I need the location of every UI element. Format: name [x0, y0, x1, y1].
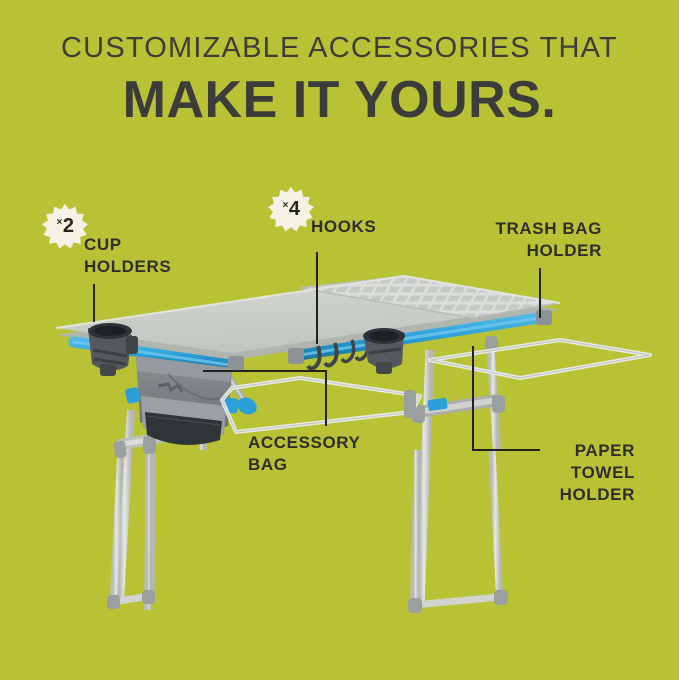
- leader-line-cup-holders: [93, 284, 95, 322]
- count-value: 4: [289, 198, 300, 221]
- headline-eyebrow: CUSTOMIZABLE ACCESSORIES THAT: [0, 34, 679, 63]
- callout-label-trash-bag-holder: TRASH BAG HOLDER: [432, 218, 602, 262]
- cup-holders-count-text: ×2: [42, 203, 88, 249]
- leader-line-trash-bag: [539, 268, 541, 318]
- count-value: 2: [63, 215, 74, 238]
- infographic-canvas: CUSTOMIZABLE ACCESSORIES THAT MAKE IT YO…: [0, 0, 679, 680]
- callout-label-hooks: HOOKS: [311, 216, 376, 238]
- hooks-count-text: ×4: [268, 186, 314, 232]
- cup-holders-count-badge: ×2: [42, 203, 88, 249]
- page-title: MAKE IT YOURS.: [0, 74, 679, 126]
- leader-line-accessory-bag-h: [203, 370, 327, 372]
- leader-line-hooks: [316, 252, 318, 344]
- callout-label-cup-holders: CUP HOLDERS: [84, 234, 171, 278]
- paper-towel-mount: [404, 390, 416, 418]
- cup-holder-right: [363, 328, 405, 374]
- multiplier-symbol: ×: [57, 217, 62, 228]
- hooks-count-badge: ×4: [268, 186, 314, 232]
- leader-line-accessory-bag-v: [325, 370, 327, 426]
- cup-holder-left: [88, 323, 138, 376]
- multiplier-symbol: ×: [283, 200, 288, 211]
- leader-line-paper-towel-v: [472, 346, 474, 450]
- callout-label-accessory-bag: ACCESSORY BAG: [248, 432, 360, 476]
- trash-bag-holder: [430, 340, 650, 378]
- callout-label-paper-towel-holder: PAPER TOWEL HOLDER: [485, 440, 635, 505]
